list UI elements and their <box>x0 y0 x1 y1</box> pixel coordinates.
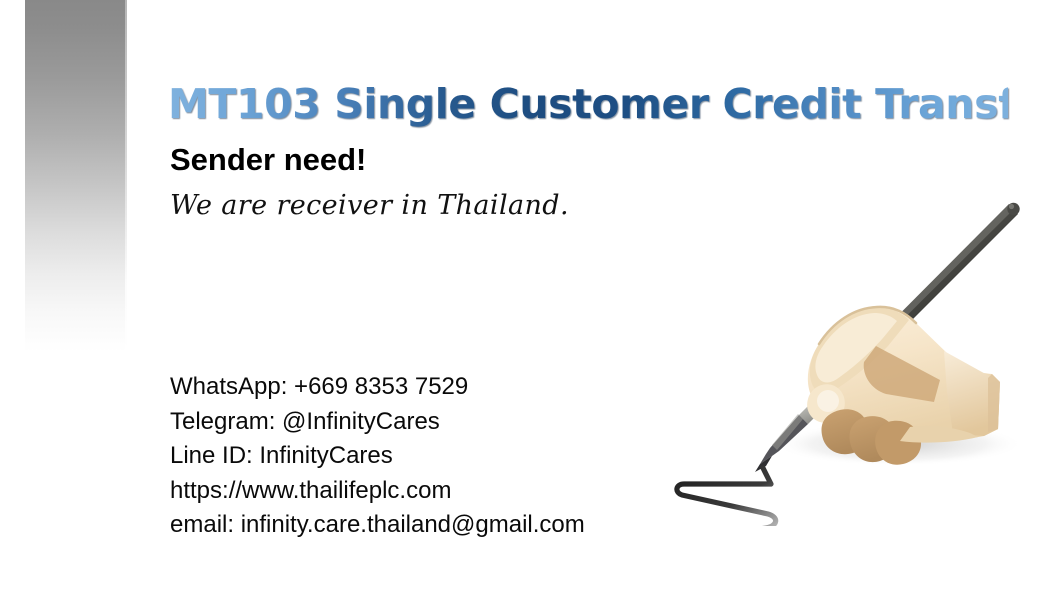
slide-canvas: MT103 Single Customer Credit Transfer Se… <box>0 0 1063 600</box>
contact-line-website[interactable]: https://www.thailifeplc.com <box>170 474 690 509</box>
contact-block: WhatsApp: +669 8353 7529 Telegram: @Infi… <box>170 370 690 543</box>
headline-text: Sender need! <box>170 143 366 177</box>
left-gradient-bar-edge <box>125 0 127 352</box>
contact-line-whatsapp: WhatsApp: +669 8353 7529 <box>170 370 690 405</box>
contact-line-lineid: Line ID: InfinityCares <box>170 439 690 474</box>
contact-line-telegram: Telegram: @InfinityCares <box>170 405 690 440</box>
title-container: MT103 Single Customer Credit Transfer <box>168 78 1008 130</box>
signature-squiggle <box>677 468 776 526</box>
contact-line-email[interactable]: email: infinity.care.thailand@gmail.com <box>170 508 690 543</box>
page-title: MT103 Single Customer Credit Transfer <box>168 78 1008 130</box>
hand-writing-icon <box>648 196 1048 526</box>
left-gradient-bar <box>25 0 125 352</box>
script-subtitle: We are receiver in Thailand. <box>170 188 569 224</box>
